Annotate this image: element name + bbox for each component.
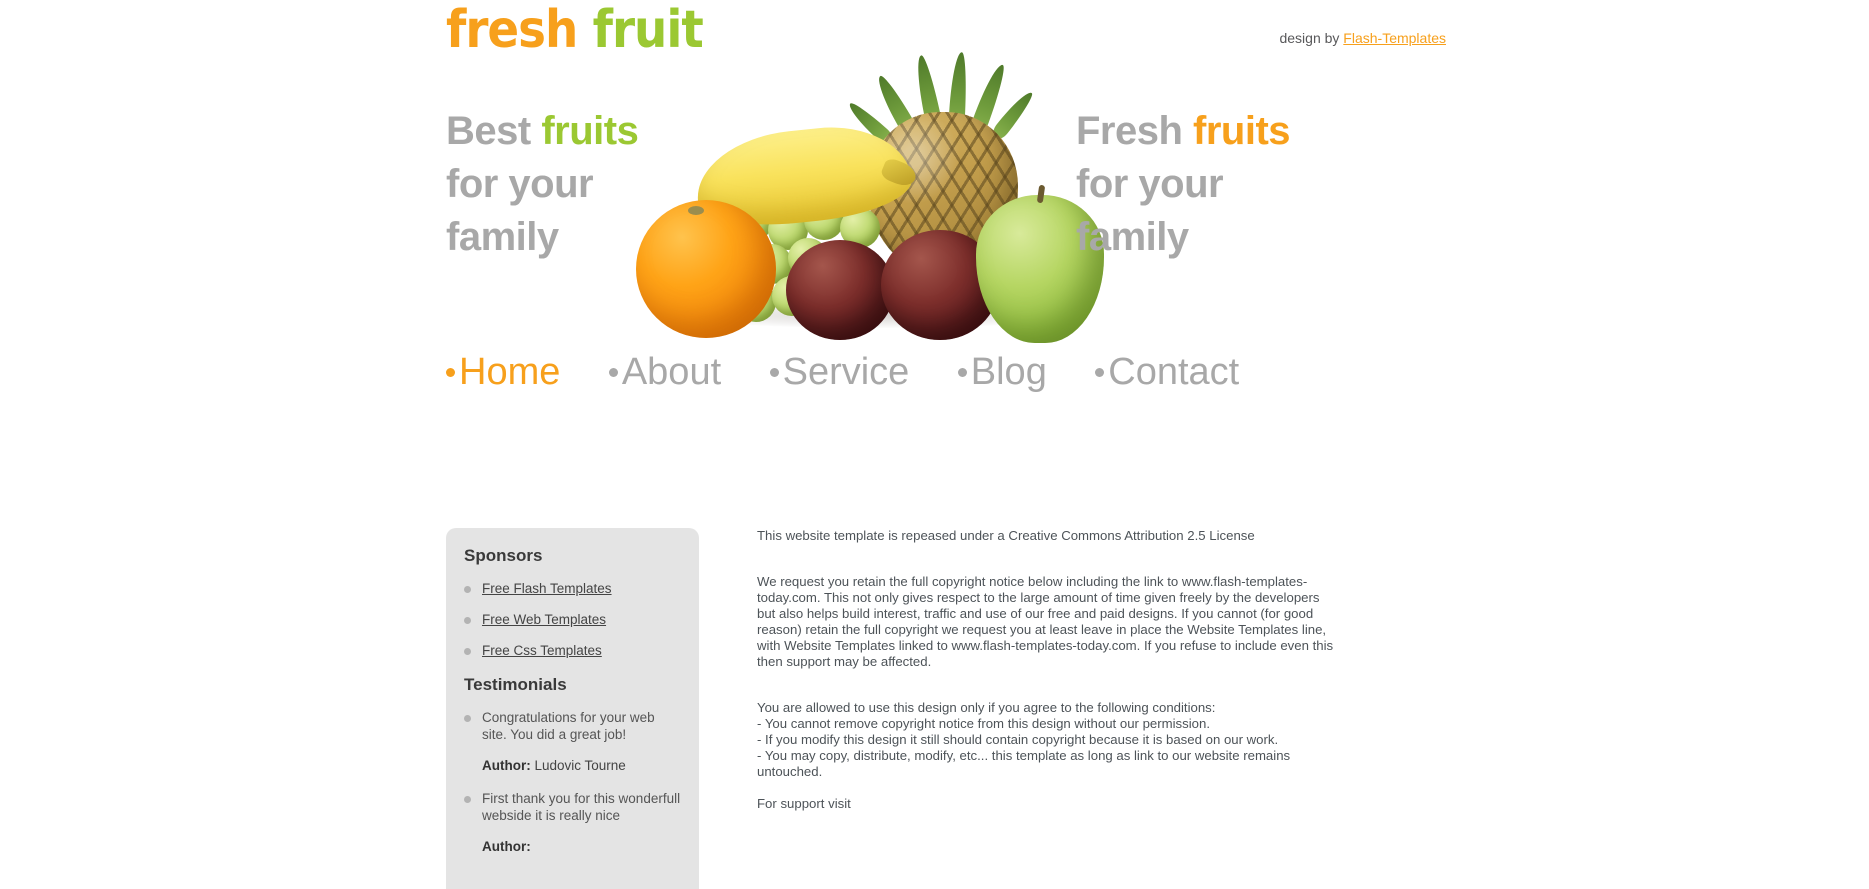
tagline-left-word-best: Best <box>446 109 541 153</box>
tagline-right-word-fresh: Fresh <box>1076 109 1193 153</box>
tagline-left-line2: for your <box>446 158 638 211</box>
tagline-left-line1: Best fruits <box>446 105 638 158</box>
testimonial-author-label: Author: <box>482 839 531 854</box>
logo-word-fresh: fresh <box>446 0 577 60</box>
sidebar-sponsors-title: Sponsors <box>464 546 681 566</box>
testimonials-list: Congratulations for your web site. You d… <box>464 709 681 743</box>
tagline-right-line3: family <box>1076 211 1290 264</box>
design-credit: design by Flash-Templates <box>1279 30 1446 46</box>
plum-fruit <box>786 240 894 340</box>
sidebar: Sponsors Free Flash Templates Free Web T… <box>446 528 699 889</box>
tagline-right-line2: for your <box>1076 158 1290 211</box>
nav-item-about-label: About <box>622 351 721 393</box>
tagline-right: Fresh fruits for your family <box>1076 105 1290 264</box>
fruit-basket-photo <box>636 50 1116 350</box>
license-line: This website template is repeased under … <box>757 528 1337 544</box>
condition-item-3: - You may copy, distribute, modify, etc.… <box>757 748 1290 779</box>
conditions-block: You are allowed to use this design only … <box>757 700 1337 780</box>
nav-item-contact-label: Contact <box>1108 351 1239 393</box>
main-navigation: Home About Service Blog Contact <box>446 350 1446 394</box>
bullet-icon <box>1095 368 1104 377</box>
bullet-icon <box>446 368 455 377</box>
tagline-right-line1: Fresh fruits <box>1076 105 1290 158</box>
page-wrapper: fresh fruit design by Flash-Templates Be… <box>446 0 1446 889</box>
nav-item-service-label: Service <box>783 351 910 393</box>
nav-item-blog[interactable]: Blog <box>958 350 1047 394</box>
main-content: This website template is repeased under … <box>757 528 1337 842</box>
testimonial-author-name: Ludovic Tourne <box>535 758 626 773</box>
sponsor-link-free-css-templates[interactable]: Free Css Templates <box>482 643 602 658</box>
sponsors-list: Free Flash Templates Free Web Templates … <box>464 580 681 659</box>
hero-section: Best fruits for your family <box>446 60 1446 350</box>
sponsor-link-free-flash-templates[interactable]: Free Flash Templates <box>482 581 612 596</box>
condition-item-1: - You cannot remove copyright notice fro… <box>757 716 1210 731</box>
tagline-left-line3: family <box>446 211 638 264</box>
bullet-icon <box>609 368 618 377</box>
nav-item-contact[interactable]: Contact <box>1095 350 1239 394</box>
design-credit-label: design by <box>1279 30 1339 46</box>
flash-templates-link[interactable]: Flash-Templates <box>1343 30 1446 46</box>
testimonial-author: Author: <box>464 838 681 855</box>
list-item: Free Web Templates <box>464 611 681 628</box>
nav-item-about[interactable]: About <box>609 350 721 394</box>
nav-item-home-label: Home <box>459 351 560 393</box>
sidebar-testimonials-title: Testimonials <box>464 675 681 695</box>
nav-item-blog-label: Blog <box>971 351 1047 393</box>
tagline-left-word-fruits: fruits <box>541 109 638 153</box>
bullet-icon <box>770 368 779 377</box>
testimonials-list-second: First thank you for this wonderfull webs… <box>464 790 681 824</box>
testimonial-author-label: Author: <box>482 758 531 773</box>
list-item: Free Css Templates <box>464 642 681 659</box>
tagline-right-word-fruits: fruits <box>1193 109 1290 153</box>
list-item: Congratulations for your web site. You d… <box>464 709 681 743</box>
copyright-paragraph: We request you retain the full copyright… <box>757 574 1337 670</box>
list-item: Free Flash Templates <box>464 580 681 597</box>
support-line: For support visit <box>757 796 1337 812</box>
nav-item-service[interactable]: Service <box>770 350 910 394</box>
page-root: fresh fruit design by Flash-Templates Be… <box>0 0 1869 889</box>
tagline-left: Best fruits for your family <box>446 105 638 264</box>
conditions-intro: You are allowed to use this design only … <box>757 700 1215 715</box>
sponsor-link-free-web-templates[interactable]: Free Web Templates <box>482 612 606 627</box>
testimonial-author: Author: Ludovic Tourne <box>464 757 681 774</box>
bullet-icon <box>958 368 967 377</box>
condition-item-2: - If you modify this design it still sho… <box>757 732 1278 747</box>
nav-item-home[interactable]: Home <box>446 350 560 394</box>
list-item: First thank you for this wonderfull webs… <box>464 790 681 824</box>
orange-fruit <box>636 200 776 338</box>
